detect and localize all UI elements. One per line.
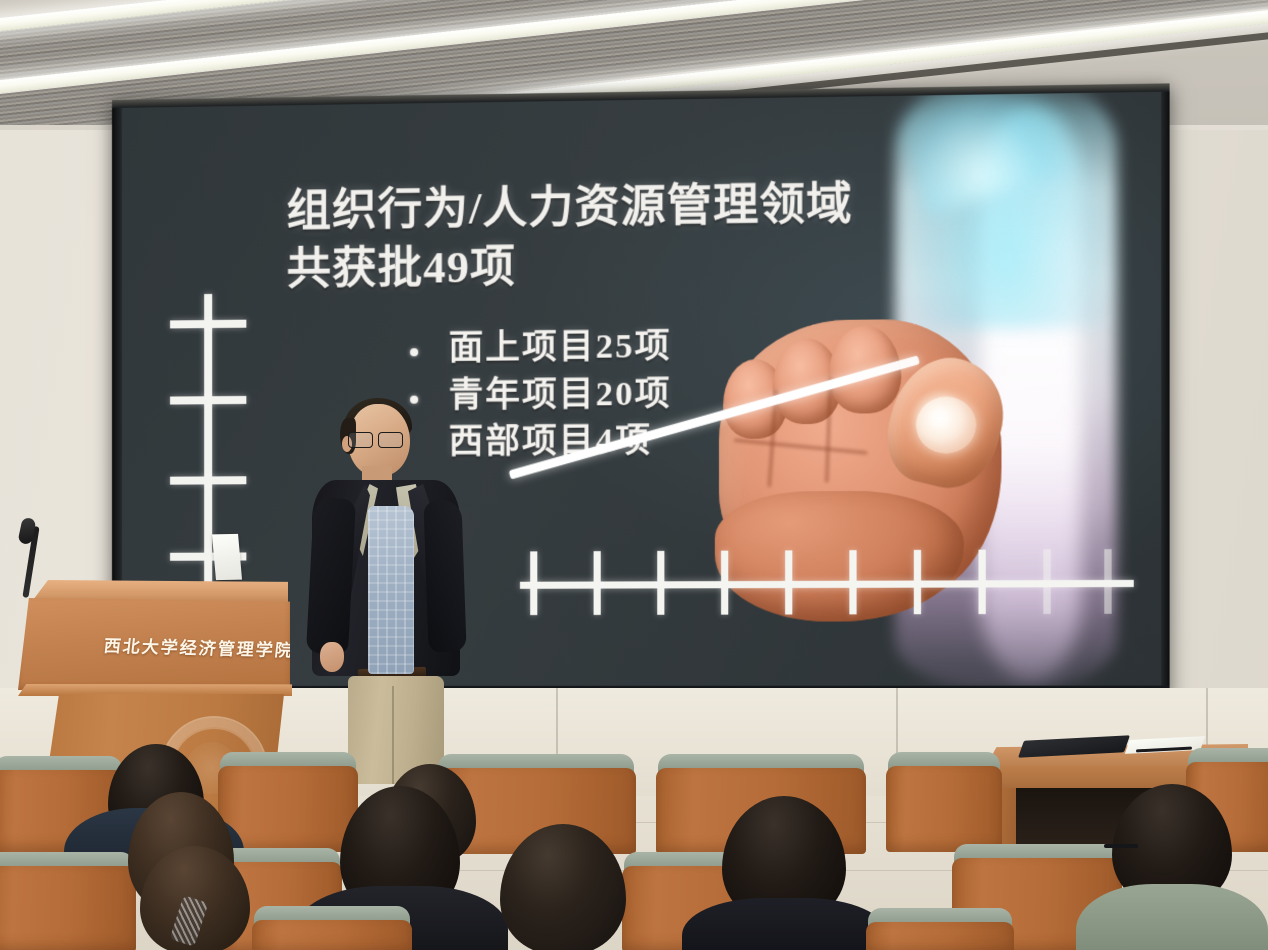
chart-x-tick	[530, 551, 537, 615]
seat-back	[886, 766, 1002, 852]
chart-x-tick	[785, 550, 792, 614]
chart-x-tick	[657, 551, 664, 615]
audience-shoulders	[1076, 884, 1268, 950]
presenter-arm-left	[306, 497, 356, 655]
screen-bezel-right	[1161, 83, 1169, 700]
slide-title-line-2: 共获批49项	[287, 233, 933, 299]
chart-x-tick	[978, 550, 985, 614]
seat-back	[252, 920, 412, 950]
slide-title: 组织行为/人力资源管理领域 共获批49项	[287, 174, 933, 299]
audience-shoulders	[682, 898, 888, 950]
chart-x-tick	[914, 550, 921, 614]
glasses-lens	[378, 432, 403, 448]
presenter-hand-left	[320, 642, 344, 672]
glasses-lens	[348, 432, 373, 448]
auditorium-seat[interactable]	[0, 852, 136, 950]
seat-back	[0, 866, 136, 950]
seat-back	[866, 922, 1014, 950]
chart-y-tick	[170, 396, 246, 405]
lecture-hall-photo: 组织行为/人力资源管理领域 共获批49项 面上项目25项 青年项目20项 西部项…	[0, 0, 1268, 950]
trend-line-glow	[910, 390, 968, 444]
presenter-glasses	[348, 432, 410, 447]
chart-x-tick	[849, 550, 856, 614]
trouser-seam	[392, 686, 394, 784]
lectern-paper	[212, 534, 242, 580]
presenter-arm-right	[423, 499, 466, 652]
fist-lower-fingers	[715, 490, 964, 621]
chart-x-tick	[1043, 549, 1050, 614]
presenter	[296, 396, 476, 784]
lectern-label: 西北大学经济管理学院	[103, 632, 296, 662]
lectern-front-face: 西北大学经济管理学院	[18, 598, 290, 690]
chart-y-tick	[170, 476, 246, 484]
auditorium-seat[interactable]	[252, 906, 412, 950]
glasses-icon	[1104, 844, 1138, 848]
auditorium-seat[interactable]	[886, 752, 1002, 852]
chart-y-tick	[170, 320, 246, 329]
presenter-shirt-front	[368, 506, 414, 674]
chart-x-tick	[1104, 549, 1111, 614]
chart-x-tick	[594, 551, 601, 615]
chart-x-tick	[721, 551, 728, 615]
slide-title-line-1: 组织行为/人力资源管理领域	[287, 174, 933, 241]
auditorium-seat[interactable]	[866, 908, 1014, 950]
